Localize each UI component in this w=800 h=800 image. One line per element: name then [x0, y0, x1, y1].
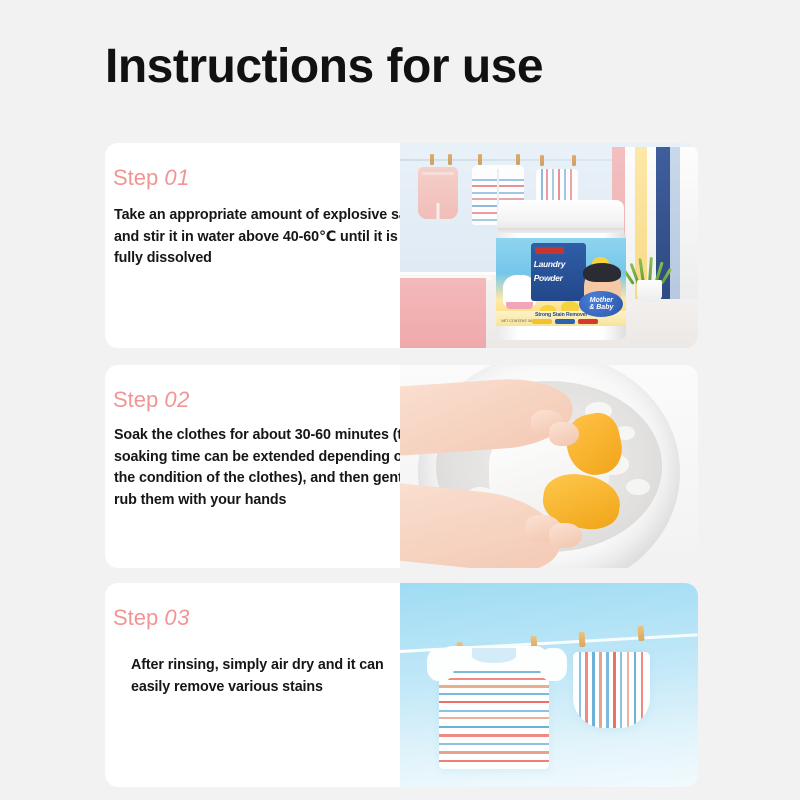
- shirt-sleeve-right: [540, 648, 567, 681]
- step-1-body: Take an appropriate amount of explosive …: [114, 205, 418, 270]
- step-2-label: Step 02: [113, 387, 190, 413]
- step-3-body: After rinsing, simply air dry and it can…: [131, 655, 418, 698]
- step-3-text-panel: Step 03 After rinsing, simply air dry an…: [105, 583, 400, 787]
- step-2-number: 02: [164, 387, 189, 412]
- step-1-label-word: Step: [113, 165, 158, 190]
- shirt-sleeve-left: [427, 648, 454, 681]
- step-3-number: 03: [164, 605, 189, 630]
- clothespin-icon: [572, 155, 576, 166]
- product-jar: Laundry Powder Strong Stain Remover NET …: [496, 200, 626, 340]
- clothespin-icon: [578, 632, 585, 647]
- feature-badges: [532, 319, 598, 324]
- step-card-1: Step 01 Take an appropriate amount of ex…: [105, 143, 698, 348]
- step-3-label-word: Step: [113, 605, 158, 630]
- step-3-image: [400, 583, 698, 787]
- infographic-page: Instructions for use Step 01 Take an app…: [0, 0, 800, 800]
- striped-baby-bloomers: [573, 652, 650, 727]
- pink-cabinet: [400, 278, 486, 348]
- step-2-image: [400, 365, 698, 568]
- step-card-3: Step 03 After rinsing, simply air dry an…: [105, 583, 698, 787]
- jar-label: Laundry Powder Strong Stain Remover NET …: [496, 238, 626, 326]
- clothespin-icon: [540, 155, 544, 166]
- step-2-body: Soak the clothes for about 30-60 minutes…: [114, 425, 420, 512]
- jar-body: Laundry Powder Strong Stain Remover NET …: [496, 233, 626, 340]
- page-title: Instructions for use: [105, 42, 543, 92]
- shirt-neckline: [472, 648, 517, 662]
- clothespin-icon: [516, 154, 520, 165]
- step-card-2: Step 02 Soak the clothes for about 30-60…: [105, 365, 698, 568]
- step-1-number: 01: [164, 165, 189, 190]
- brand-plate: [535, 247, 564, 254]
- clothespin-icon: [638, 626, 645, 641]
- step-3-label: Step 03: [113, 605, 190, 631]
- hanging-pink-shorts: [418, 167, 458, 219]
- clothespin-icon: [430, 154, 434, 165]
- clothespin-icon: [478, 154, 482, 165]
- step-1-image: Laundry Powder Strong Stain Remover NET …: [400, 143, 698, 348]
- step-2-label-word: Step: [113, 387, 158, 412]
- step-2-text-panel: Step 02 Soak the clothes for about 30-60…: [105, 365, 400, 568]
- step-1-text-panel: Step 01 Take an appropriate amount of ex…: [105, 143, 400, 348]
- product-tagline: Strong Stain Remover: [535, 312, 587, 318]
- jar-lid: [498, 200, 624, 234]
- product-name-line-1: Laundry: [534, 259, 565, 269]
- product-name-line-2: Powder: [534, 273, 563, 283]
- striped-baby-top: [439, 646, 549, 768]
- clothespin-icon: [448, 154, 452, 165]
- plant-pot: [637, 280, 662, 302]
- step-1-label: Step 01: [113, 165, 190, 191]
- badge-line-2: & Baby: [589, 304, 613, 311]
- badge-line-1: Mother: [590, 297, 613, 304]
- net-weight-text: NET CONTENT: 500g: [501, 319, 536, 323]
